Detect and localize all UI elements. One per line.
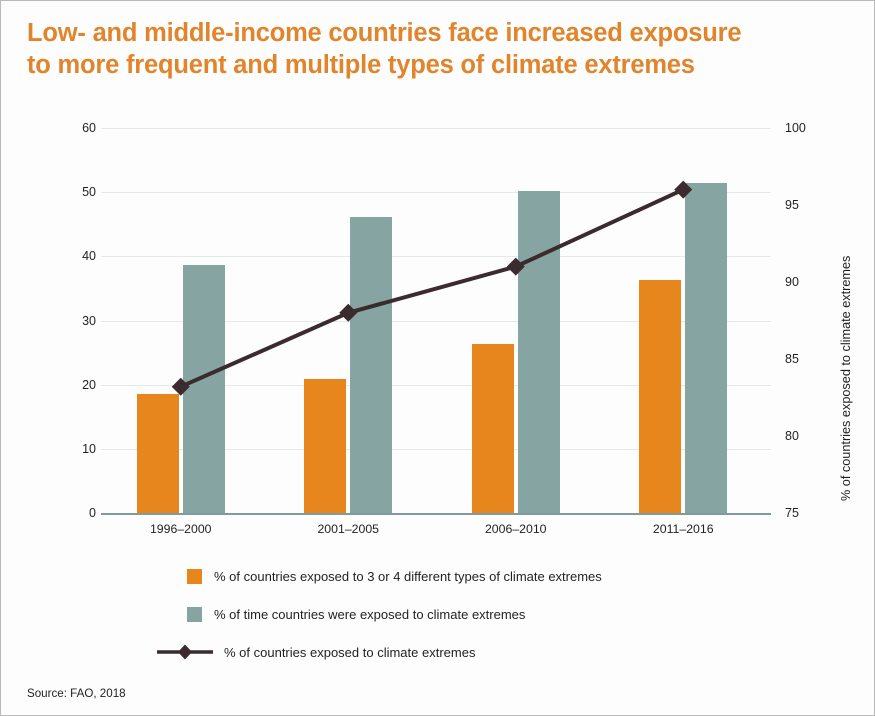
right-axis-tick-label: 85 — [785, 352, 845, 366]
legend-line-diamond-icon — [157, 643, 213, 661]
left-axis-tick-label: 30 — [36, 314, 96, 328]
legend-item-orange: % of countries exposed to 3 or 4 differe… — [187, 567, 807, 585]
category-label: 2006–2010 — [456, 522, 576, 536]
left-axis-tick-label: 60 — [36, 121, 96, 135]
category-label: 2001–2005 — [288, 522, 408, 536]
chart-figure: Low- and middle-income countries face in… — [0, 0, 875, 716]
legend-label-orange: % of countries exposed to 3 or 4 differe… — [214, 569, 602, 584]
right-axis-tick-label: 75 — [785, 506, 845, 520]
right-axis-tick-label: 90 — [785, 275, 845, 289]
right-axis-tick-label: 95 — [785, 198, 845, 212]
left-axis-tick-label: 50 — [36, 185, 96, 199]
legend: % of countries exposed to 3 or 4 differe… — [187, 567, 807, 681]
left-axis-tick-label: 10 — [36, 442, 96, 456]
line-marker-diamond — [674, 181, 692, 199]
line-marker-diamond — [172, 378, 190, 396]
right-axis-tick-label: 80 — [785, 429, 845, 443]
source-note: Source: FAO, 2018 — [27, 687, 126, 700]
line-marker-diamond — [339, 304, 357, 322]
plot-area — [101, 128, 771, 513]
line-series-layer — [101, 128, 771, 513]
legend-label-teal: % of time countries were exposed to clim… — [214, 607, 525, 622]
left-axis-tick-label: 40 — [36, 249, 96, 263]
line-marker-diamond — [507, 258, 525, 276]
title-line-2: to more frequent and multiple types of c… — [27, 49, 857, 81]
legend-label-line: % of countries exposed to climate extrem… — [224, 645, 475, 660]
page-title: Low- and middle-income countries face in… — [27, 17, 857, 81]
line-path — [181, 190, 684, 387]
left-axis-tick-label: 0 — [36, 506, 96, 520]
category-label: 1996–2000 — [121, 522, 241, 536]
legend-swatch-teal-icon — [187, 607, 202, 622]
right-axis-title: % of countries exposed to climate extrem… — [839, 141, 853, 501]
title-line-1: Low- and middle-income countries face in… — [27, 19, 741, 47]
right-axis-tick-label: 100 — [785, 121, 845, 135]
gridline — [101, 513, 771, 515]
legend-item-line: % of countries exposed to climate extrem… — [157, 643, 807, 661]
legend-swatch-orange-icon — [187, 569, 202, 584]
category-label: 2011–2016 — [623, 522, 743, 536]
legend-item-teal: % of time countries were exposed to clim… — [187, 605, 807, 623]
left-axis-tick-label: 20 — [36, 378, 96, 392]
